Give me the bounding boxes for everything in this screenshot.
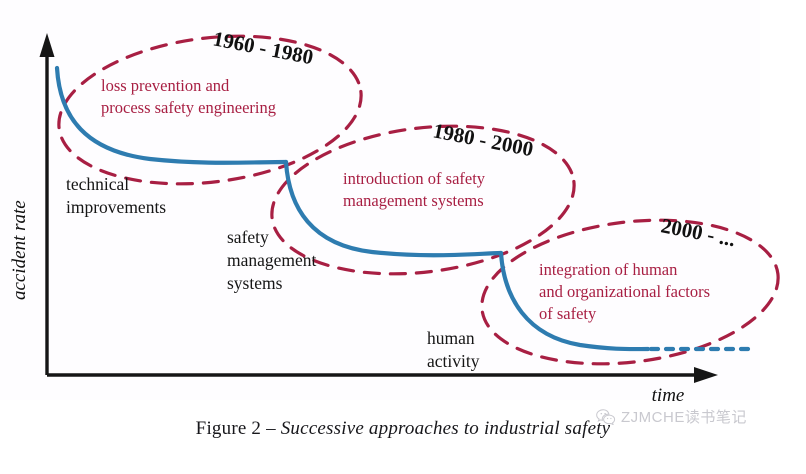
driver-3-line-1: human xyxy=(427,328,475,348)
era-3-desc-line-3: of safety xyxy=(539,304,597,323)
watermark: ZJMCHE读书笔记 xyxy=(596,406,747,427)
era-2-desc-line-1: introduction of safety xyxy=(343,169,486,188)
era-3-desc-line-2: and organizational factors xyxy=(539,282,710,301)
driver-2-line-3: systems xyxy=(227,273,283,293)
safety-evolution-chart: accident rate time 1960 - 1980 1980 - 20… xyxy=(0,0,806,474)
era-2-desc-line-2: management systems xyxy=(343,191,484,210)
driver-2-line-2: management xyxy=(227,250,317,270)
figure-caption-title: Successive approaches to industrial safe… xyxy=(281,418,611,439)
driver-3-line-2: activity xyxy=(427,351,480,371)
driver-1-line-2: improvements xyxy=(66,197,166,217)
era-3-desc-line-1: integration of human xyxy=(539,260,677,279)
driver-2-line-1: safety xyxy=(227,227,269,247)
figure-container: accident rate time 1960 - 1980 1980 - 20… xyxy=(0,0,806,474)
era-1-desc-line-1: loss prevention and xyxy=(101,76,230,95)
driver-1-line-1: technical xyxy=(66,174,129,194)
watermark-text: ZJMCHE读书笔记 xyxy=(621,406,747,427)
figure-caption-lead: Figure 2 – xyxy=(196,418,281,439)
wechat-icon xyxy=(596,409,616,425)
x-axis-label: time xyxy=(652,385,685,406)
y-axis-label: accident rate xyxy=(9,200,30,300)
era-1-desc-line-2: process safety engineering xyxy=(101,98,276,117)
